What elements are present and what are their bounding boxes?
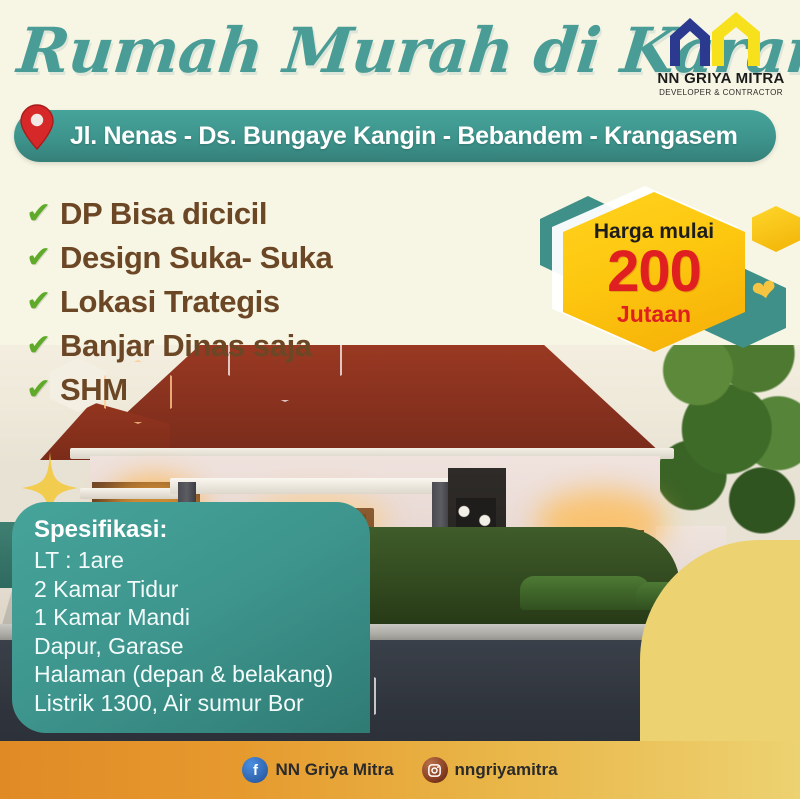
facebook-social[interactable]: f NN Griya Mitra [242, 757, 393, 783]
two-house-outline-icon [656, 10, 786, 68]
facebook-handle: NN Griya Mitra [275, 760, 393, 780]
spec-line: LT : 1are [34, 546, 354, 575]
list-item: ✔ SHM [26, 368, 426, 412]
spec-line: 1 Kamar Mandi [34, 603, 354, 632]
specification-panel: Spesifikasi: LT : 1are 2 Kamar Tidur 1 K… [12, 502, 370, 733]
check-mark-icon: ✔ [26, 331, 60, 361]
feature-label: SHM [60, 372, 128, 408]
address-text: Jl. Nenas - Ds. Bungaye Kangin - Bebande… [70, 122, 738, 151]
real-estate-flyer: Rumah Murah di Karangasem NN GRIYA MITRA… [0, 0, 800, 799]
check-mark-icon: ✔ [26, 199, 60, 229]
logo-name: NN GRIYA MITRA [656, 70, 786, 87]
instagram-icon[interactable] [422, 757, 448, 783]
address-bar: Jl. Nenas - Ds. Bungaye Kangin - Bebande… [14, 110, 776, 162]
feature-label: DP Bisa dicicil [60, 196, 267, 232]
price-amount: 200 [607, 244, 701, 299]
spec-title: Spesifikasi: [34, 516, 354, 544]
instagram-social[interactable]: nngriyamitra [422, 757, 558, 783]
list-item: ✔ Banjar Dinas saja [26, 324, 426, 368]
tree-icon [650, 330, 800, 534]
shrub [520, 576, 650, 610]
list-item: ✔ Design Suka- Suka [26, 236, 426, 280]
check-mark-icon: ✔ [26, 287, 60, 317]
logo-tagline: DEVELOPER & CONTRACTOR [656, 88, 786, 97]
spec-line: Listrik 1300, Air sumur Bor [34, 689, 354, 718]
check-mark-icon: ✔ [26, 243, 60, 273]
list-item: ✔ Lokasi Trategis [26, 280, 426, 324]
map-pin-icon [20, 104, 54, 150]
footer-social-bar: f NN Griya Mitra nngriyamitra [0, 741, 800, 799]
feature-list: ✔ DP Bisa dicicil ✔ Design Suka- Suka ✔ … [26, 192, 426, 412]
instagram-handle: nngriyamitra [455, 760, 558, 780]
list-item: ✔ DP Bisa dicicil [26, 192, 426, 236]
feature-label: Banjar Dinas saja [60, 328, 312, 364]
spec-line: Dapur, Garase [34, 632, 354, 661]
check-mark-icon: ✔ [26, 375, 60, 405]
spec-line: 2 Kamar Tidur [34, 575, 354, 604]
feature-label: Design Suka- Suka [60, 240, 332, 276]
page-title: Rumah Murah di Karangasem [15, 18, 672, 83]
spec-line: Halaman (depan & belakang) [34, 660, 354, 689]
facebook-icon[interactable]: f [242, 757, 268, 783]
brand-logo: NN GRIYA MITRA DEVELOPER & CONTRACTOR [656, 10, 786, 97]
price-unit: Jutaan [617, 301, 691, 328]
feature-label: Lokasi Trategis [60, 284, 280, 320]
